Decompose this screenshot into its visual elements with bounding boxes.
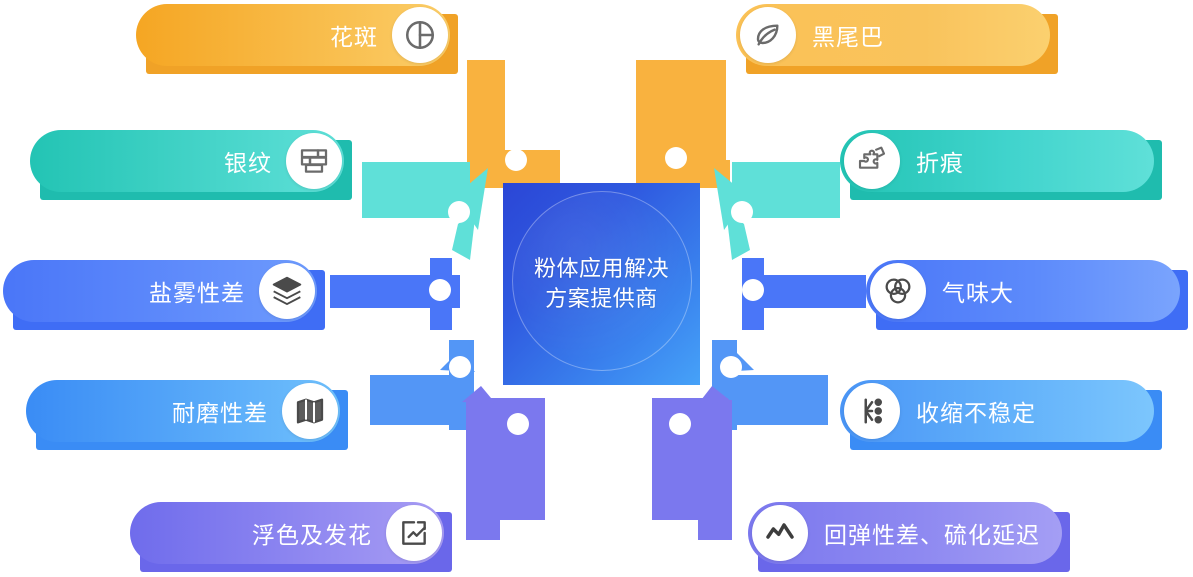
connector-nai-mo-xing-cha xyxy=(370,340,475,430)
connector-yan-wu-xing-cha xyxy=(330,258,460,330)
node-yan-wu-xing-cha[interactable]: 盐雾性差 xyxy=(3,260,317,322)
connector-yin-wen xyxy=(362,162,488,260)
node-label: 折痕 xyxy=(916,144,964,178)
node-label: 耐磨性差 xyxy=(172,394,268,428)
node-label: 银纹 xyxy=(224,144,272,178)
line-chart-icon xyxy=(752,505,808,561)
node-pill[interactable]: 盐雾性差 xyxy=(3,260,317,322)
brick-wall-icon xyxy=(286,133,342,189)
node-label: 浮色及发花 xyxy=(252,516,372,550)
center-node-label: 粉体应用解决 方案提供商 xyxy=(534,254,669,314)
node-fu-se-ji-fa-hua[interactable]: 浮色及发花 xyxy=(130,502,444,564)
diagram-canvas: 粉体应用解决 方案提供商 花斑 银纹 xyxy=(0,0,1193,577)
node-label: 黑尾巴 xyxy=(812,18,884,52)
node-pill[interactable]: 回弹性差、硫化延迟 xyxy=(748,502,1062,564)
node-hua-ban[interactable]: 花斑 xyxy=(136,4,450,66)
node-label: 回弹性差、硫化延迟 xyxy=(824,516,1040,550)
leaf-icon xyxy=(740,7,796,63)
branch-icon xyxy=(844,383,900,439)
puzzle-icon xyxy=(844,133,900,189)
node-pill[interactable]: 花斑 xyxy=(136,4,450,66)
trending-up-icon xyxy=(386,505,442,561)
node-shou-suo-bu-wen-ding[interactable]: 收缩不稳定 xyxy=(840,380,1154,442)
node-nai-mo-xing-cha[interactable]: 耐磨性差 xyxy=(26,380,340,442)
node-hui-tan-xing-cha[interactable]: 回弹性差、硫化延迟 xyxy=(748,502,1062,564)
center-node[interactable]: 粉体应用解决 方案提供商 xyxy=(503,183,700,385)
node-label: 盐雾性差 xyxy=(149,274,245,308)
connector-fu-se-ji-fa-hua xyxy=(462,386,545,540)
connector-qi-wei-da xyxy=(742,258,866,330)
node-pill[interactable]: 黑尾巴 xyxy=(736,4,1050,66)
node-yin-wen[interactable]: 银纹 xyxy=(30,130,344,192)
pie-chart-icon xyxy=(392,7,448,63)
node-label: 气味大 xyxy=(942,274,1014,308)
node-hei-wei-ba[interactable]: 黑尾巴 xyxy=(736,4,1050,66)
node-pill[interactable]: 银纹 xyxy=(30,130,344,192)
node-pill[interactable]: 收缩不稳定 xyxy=(840,380,1154,442)
node-label: 花斑 xyxy=(330,18,378,52)
node-pill[interactable]: 浮色及发花 xyxy=(130,502,444,564)
open-book-icon xyxy=(282,383,338,439)
node-zhe-hen[interactable]: 折痕 xyxy=(840,130,1154,192)
node-pill[interactable]: 耐磨性差 xyxy=(26,380,340,442)
connector-hui-tan-xing-cha xyxy=(652,386,732,540)
connector-zhe-hen xyxy=(714,162,840,260)
node-label: 收缩不稳定 xyxy=(916,394,1036,428)
node-pill[interactable]: 折痕 xyxy=(840,130,1154,192)
layers-icon xyxy=(259,263,315,319)
node-qi-wei-da[interactable]: 气味大 xyxy=(866,260,1180,322)
node-pill[interactable]: 气味大 xyxy=(866,260,1180,322)
recycle-icon xyxy=(870,263,926,319)
